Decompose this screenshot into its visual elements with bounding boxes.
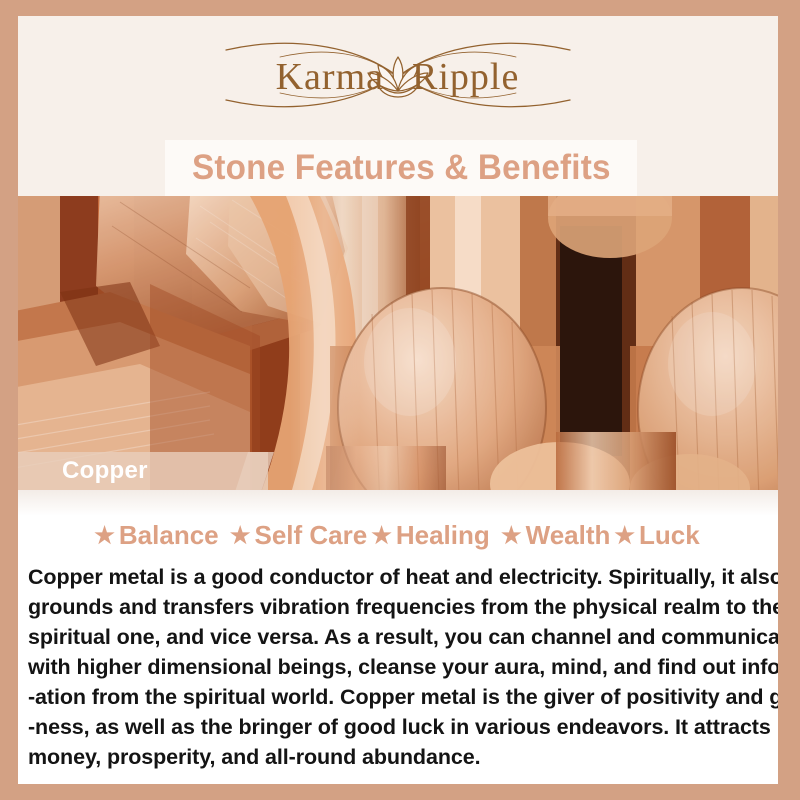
hero-image: Copper [18, 196, 778, 490]
star-icon: ★ [93, 522, 116, 548]
star-icon: ★ [613, 522, 636, 548]
benefit-wealth: Wealth [523, 520, 614, 550]
section-title-banner: Stone Features & Benefits [165, 140, 637, 196]
stone-description: Copper metal is a good conductor of heat… [28, 562, 776, 772]
brand-name-left: Karma [276, 56, 384, 98]
content-panel: ★Balance ★Self Care★Healing ★Wealth★Luck… [18, 490, 778, 784]
content-top-fade [18, 490, 778, 516]
description-line: Copper metal is a good conductor of heat… [28, 562, 776, 592]
benefit-self-care: Self Care [252, 520, 371, 550]
brand-logo-artwork: Karma Ripple [188, 32, 608, 118]
brand-header: Karma Ripple [18, 16, 778, 138]
description-line: spiritual one, and vice versa. As a resu… [28, 622, 776, 652]
brand-logo: Karma Ripple [188, 32, 608, 118]
description-line: -ness, as well as the bringer of good lu… [28, 712, 776, 742]
benefits-row: ★Balance ★Self Care★Healing ★Wealth★Luck [18, 520, 778, 551]
description-line: with higher dimensional beings, cleanse … [28, 652, 776, 682]
page-title: Stone Features & Benefits [192, 148, 611, 188]
description-line: money, prosperity, and all-round abundan… [28, 742, 776, 772]
description-line: grounds and transfers vibration frequenc… [28, 592, 776, 622]
stone-name: Copper [62, 457, 148, 485]
benefit-luck: Luck [636, 520, 703, 550]
benefit-balance: Balance [116, 520, 222, 550]
brand-name-right: Ripple [412, 56, 519, 98]
benefit-healing: Healing [393, 520, 493, 550]
star-icon: ★ [500, 522, 523, 548]
copper-bars-photo [18, 196, 778, 490]
description-line: -ation from the spiritual world. Copper … [28, 682, 776, 712]
star-icon: ★ [370, 522, 393, 548]
poster-root: Karma Ripple Stone Features & Benefits [0, 0, 800, 800]
stone-label-band: Copper [18, 452, 268, 490]
star-icon: ★ [229, 522, 252, 548]
poster-card: Karma Ripple Stone Features & Benefits [18, 16, 778, 784]
